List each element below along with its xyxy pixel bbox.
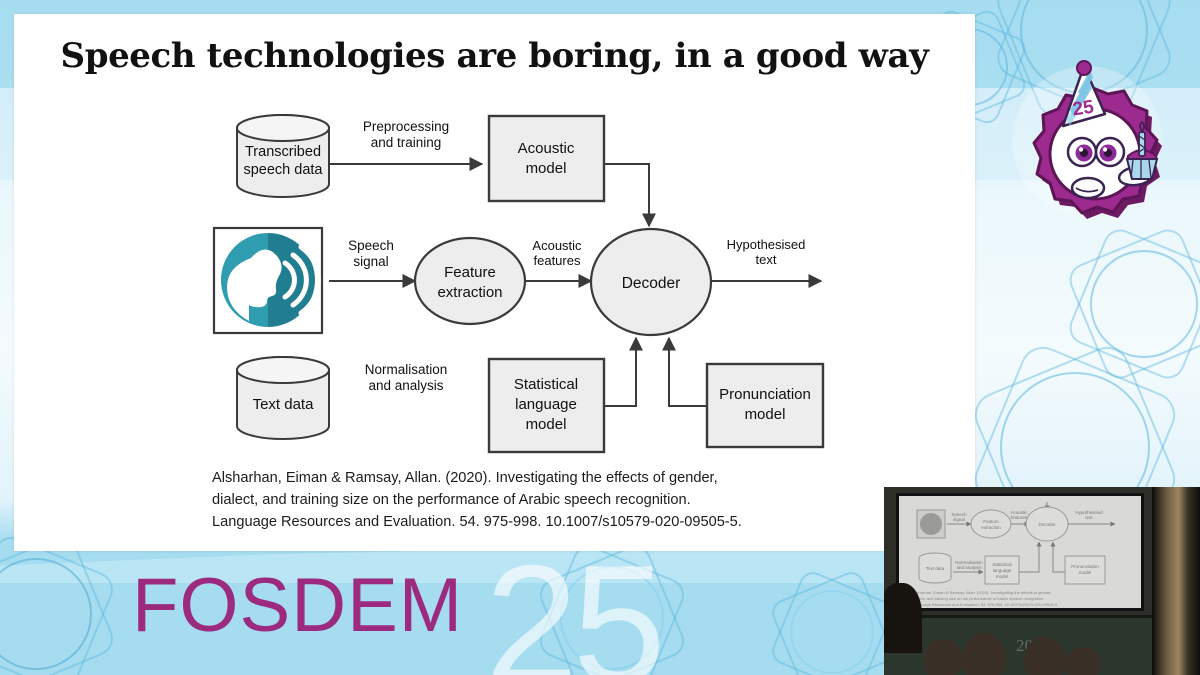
webcam-door: [1152, 487, 1200, 675]
edge-label-hypothesised-text: Hypothesised text: [727, 237, 806, 267]
speech-input-icon: [214, 228, 322, 333]
svg-text:extraction: extraction: [437, 284, 502, 301]
svg-text:Feature: Feature: [983, 519, 999, 524]
svg-text:Text data: Text data: [253, 396, 315, 413]
webcam-audience-head: [1024, 637, 1066, 675]
edge-label-preprocessing: Preprocessing and training: [363, 119, 449, 150]
node-label: Transcribed: [245, 144, 321, 160]
node-decoder: Decoder: [591, 229, 711, 335]
background-gear-icon: [0, 558, 92, 670]
svg-text:Hypothesised: Hypothesised: [727, 237, 806, 252]
svg-text:Preprocessing: Preprocessing: [363, 119, 449, 134]
svg-text:text: text: [1085, 515, 1093, 520]
svg-text:and analysis: and analysis: [368, 378, 443, 393]
svg-text:and analysis: and analysis: [956, 565, 982, 570]
node-text-data: Text data: [237, 357, 329, 439]
svg-text:Acoustic: Acoustic: [532, 238, 582, 253]
node-transcribed-speech-data: Transcribed speech data: [237, 115, 329, 197]
svg-text:dialect, and training size on: dialect, and training size on the perfor…: [913, 596, 1044, 601]
svg-text:Speech: Speech: [348, 238, 394, 253]
node-statistical-language-model: Statistical language model: [489, 359, 604, 452]
svg-text:Feature: Feature: [444, 264, 496, 281]
fosdem-wordmark: FOSDEM: [132, 568, 463, 644]
svg-text:Pronunciation: Pronunciation: [1071, 564, 1099, 569]
svg-text:signal: signal: [953, 517, 965, 522]
slide-panel: Speech technologies are boring, in a goo…: [14, 14, 975, 551]
edge-label-acoustic-features: Acoustic features: [532, 238, 582, 268]
webcam-audience-head: [962, 633, 1006, 675]
svg-text:language: language: [993, 568, 1012, 573]
mascot-hand-icon: [1072, 178, 1104, 198]
citation-block: Alsharhan, Eiman & Ramsay, Allan. (2020)…: [212, 467, 852, 533]
svg-text:text: text: [756, 252, 777, 267]
mascot-hat-number: 25: [1071, 97, 1095, 121]
svg-text:Statistical: Statistical: [992, 562, 1011, 567]
node-pronunciation-model: Pronunciation model: [707, 364, 823, 447]
node-label: speech data: [243, 162, 323, 178]
webcam-audience-head: [1066, 647, 1100, 675]
webcam-audience-head: [924, 639, 962, 675]
speaker-webcam-inset[interactable]: 6 20: [884, 487, 1200, 675]
slide-title: Speech technologies are boring, in a goo…: [14, 36, 975, 76]
webcam-speaker-silhouette: [884, 583, 922, 653]
svg-text:extraction: extraction: [981, 525, 1001, 530]
svg-text:Alsharhan, Eiman & Ramsay, All: Alsharhan, Eiman & Ramsay, Allan. (2020)…: [913, 590, 1052, 595]
svg-text:model: model: [1079, 570, 1091, 575]
svg-text:features: features: [1011, 515, 1028, 520]
fosdem-mascot: 25: [1000, 60, 1186, 246]
background-gear-icon: [790, 590, 874, 674]
svg-text:features: features: [534, 253, 581, 268]
svg-text:model: model: [996, 574, 1008, 579]
edge-label-normalisation: Normalisation and analysis: [365, 362, 448, 393]
edge-label-speech-signal: Speech signal: [348, 238, 394, 269]
svg-text:Decoder: Decoder: [1038, 522, 1056, 527]
webcam-projection-screen: Speechsignal Acousticfeatures Hypothesis…: [896, 493, 1144, 611]
svg-text:Normalisation: Normalisation: [365, 362, 448, 377]
fosdem-year-watermark: 25: [485, 540, 660, 675]
citation-line: dialect, and training size on the perfor…: [212, 489, 852, 511]
svg-text:Acoustic: Acoustic: [518, 140, 575, 157]
citation-line: Language Resources and Evaluation. 54. 9…: [212, 511, 852, 533]
citation-line: Alsharhan, Eiman & Ramsay, Allan. (2020)…: [212, 467, 852, 489]
svg-text:model: model: [526, 416, 567, 433]
slide-stage: 25 FOSDEM: [0, 0, 1200, 675]
node-acoustic-model: Acoustic model: [489, 116, 604, 201]
svg-text:model: model: [526, 160, 567, 177]
svg-text:signal: signal: [353, 254, 388, 269]
svg-text:model: model: [745, 406, 786, 423]
svg-text:Language Resources and Evaluat: Language Resources and Evaluation. 54. 9…: [913, 602, 1058, 607]
svg-text:and training: and training: [371, 135, 442, 150]
svg-text:Statistical: Statistical: [514, 376, 578, 393]
svg-text:Text data: Text data: [926, 566, 945, 571]
background-gear-icon: [1090, 250, 1198, 358]
svg-text:Decoder: Decoder: [622, 275, 681, 292]
svg-text:Pronunciation: Pronunciation: [719, 386, 811, 403]
speech-recognition-flowchart: Transcribed speech data Preprocessing an…: [199, 106, 849, 461]
svg-text:language: language: [515, 396, 577, 413]
node-feature-extraction: Feature extraction: [415, 238, 525, 324]
